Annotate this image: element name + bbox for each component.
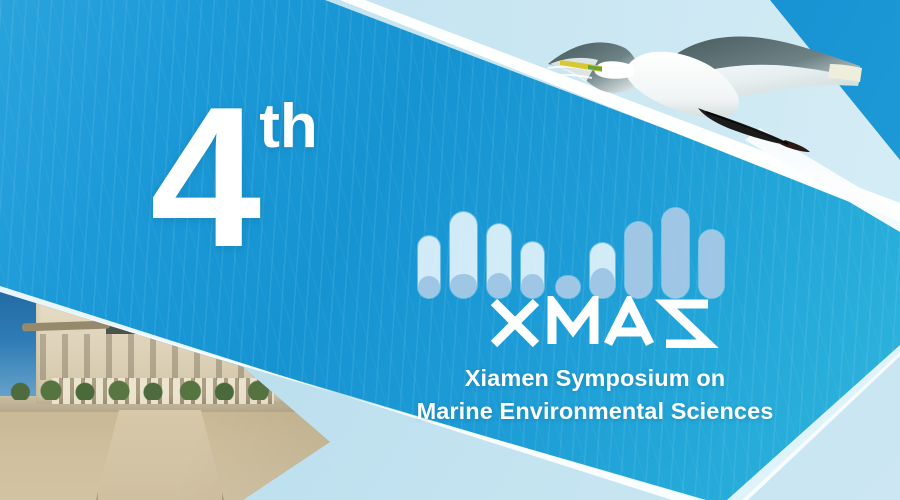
logo-bar-fill-4	[521, 274, 544, 298]
xmas-wordmark	[418, 296, 758, 348]
logo-bar-2	[450, 212, 477, 298]
logo-bar-fill-1	[418, 276, 440, 298]
logo-bar-fill-7	[625, 222, 652, 298]
conference-banner: 4th Xiamen Symposium on Marine Environme…	[0, 0, 900, 500]
logo-bar-fill-3	[487, 273, 511, 298]
logo-bar-fill-2	[450, 274, 477, 298]
logo-bar-7	[625, 222, 652, 298]
logo-bar-fill-9	[699, 230, 724, 298]
logo-bar-9	[699, 230, 724, 298]
logo-bar-6	[590, 243, 615, 298]
egret-bird-icon	[530, 8, 890, 158]
xmas-bar-logo-icon	[418, 206, 758, 298]
edition-number: 4th	[150, 78, 314, 278]
logo-bar-1	[418, 236, 440, 298]
logo-bar-3	[487, 224, 511, 298]
logo-bar-8	[662, 208, 689, 298]
logo-bar-fill-6	[590, 268, 615, 298]
logo-bar-fill-5	[556, 276, 580, 298]
event-subtitle-line1: Xiamen Symposium on	[465, 365, 725, 391]
logo-bar-fill-8	[662, 208, 689, 298]
logo-bar-4	[521, 242, 544, 298]
edition-number-ordinal: th	[259, 92, 318, 161]
event-subtitle: Xiamen Symposium on Marine Environmental…	[360, 362, 830, 429]
logo-bar-5	[556, 276, 580, 298]
edition-number-digit: 4	[150, 66, 255, 289]
event-subtitle-line2: Marine Environmental Sciences	[360, 395, 830, 428]
